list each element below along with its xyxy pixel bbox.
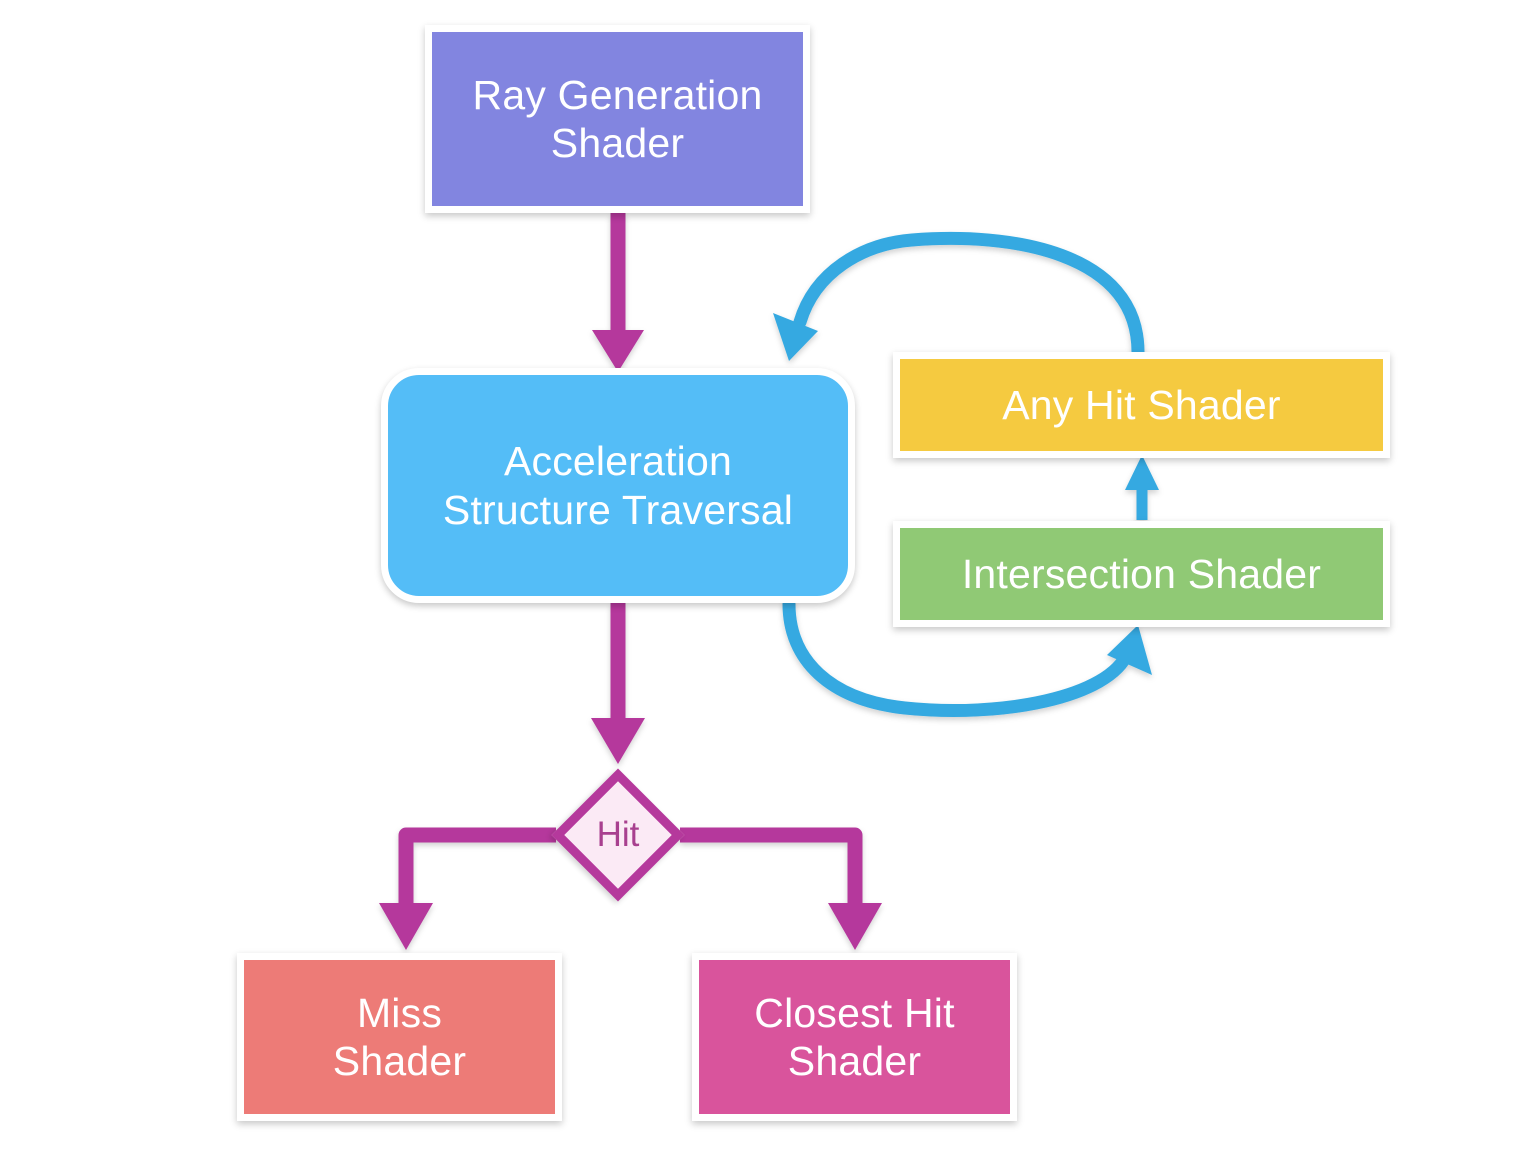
edge-intersection-to-anyhit (1125, 455, 1159, 520)
node-miss-shader[interactable]: Miss Shader (237, 953, 562, 1121)
edge-accel-to-hit (591, 603, 645, 764)
node-closest-hit-shader[interactable]: Closest Hit Shader (692, 953, 1017, 1121)
edge-hit-to-closesthit (680, 835, 882, 950)
edge-hit-to-miss (379, 835, 556, 950)
edge-anyhit-to-accel (773, 238, 1138, 361)
node-intersection-shader[interactable]: Intersection Shader (893, 521, 1390, 627)
diagram-canvas: Ray Generation Shader Acceleration Struc… (0, 0, 1518, 1156)
edge-raygen-to-accel (592, 213, 644, 372)
node-hit-decision[interactable]: Hit (552, 769, 684, 901)
hit-decision-label: Hit (552, 769, 684, 901)
node-any-hit-shader[interactable]: Any Hit Shader (893, 352, 1390, 458)
node-acceleration-structure-traversal[interactable]: Acceleration Structure Traversal (381, 368, 855, 603)
node-ray-generation-shader[interactable]: Ray Generation Shader (425, 25, 810, 213)
